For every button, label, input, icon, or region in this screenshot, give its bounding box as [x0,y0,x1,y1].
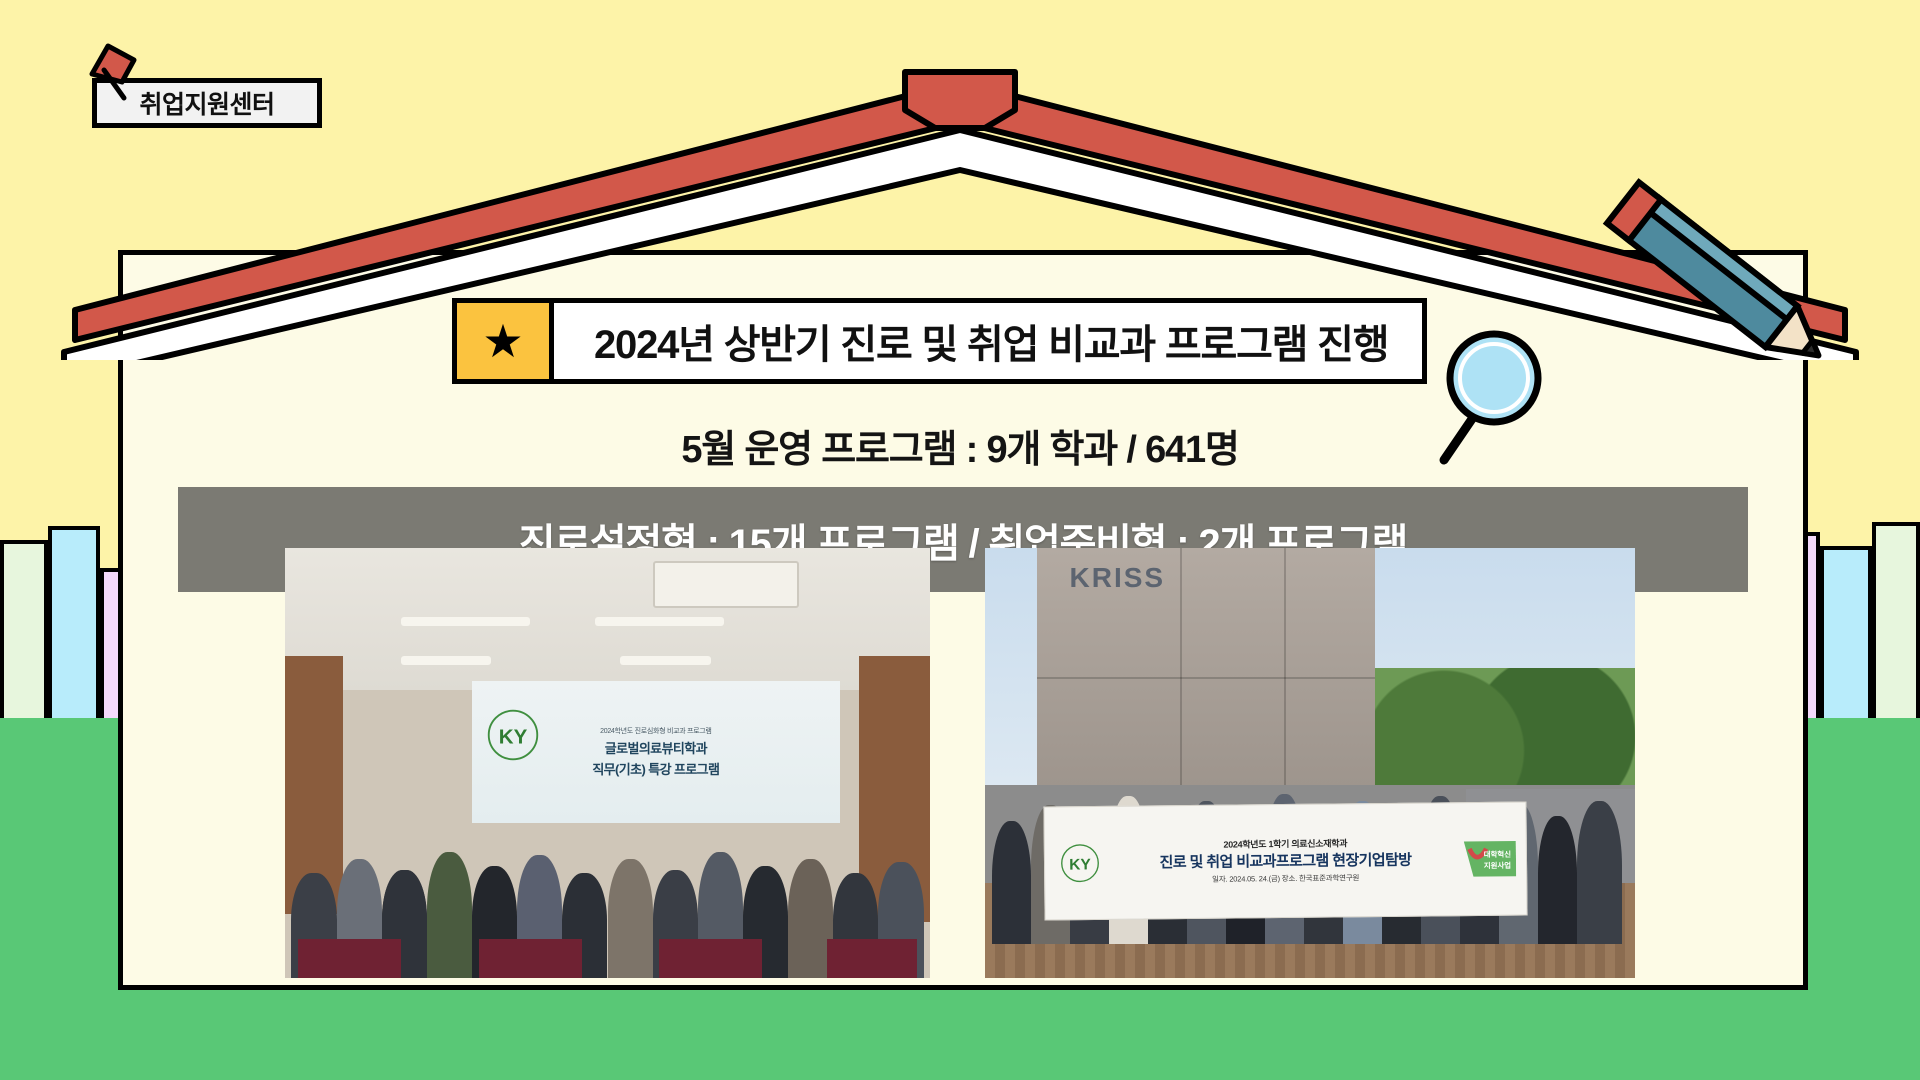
main-title: 2024년 상반기 진로 및 취업 비교과 프로그램 진행 [554,303,1422,379]
screen-line-2: 글로벌의료뷰티학과 [605,738,707,757]
event-banner: KY 2024학년도 1학기 의료신소재학과 진로 및 취업 비교과프로그램 현… [1043,801,1527,920]
field-trip-group-photo: KRISS [985,548,1635,978]
book-spine [1820,546,1872,718]
banner-line-3: 일자. 2024.05. 24.(금) 장소. 한국표준과학연구원 [1212,873,1359,886]
banner-line-1: 2024학년도 1학기 의료신소재학과 [1223,837,1347,851]
main-title-bar: ★ 2024년 상반기 진로 및 취업 비교과 프로그램 진행 [452,298,1427,384]
book-spine [1872,522,1920,718]
screen-line-3: 직무(기초) 특강 프로그램 [592,759,719,778]
star-badge: ★ [457,303,554,379]
svg-text:KY: KY [499,725,528,748]
pencil-icon [1580,175,1870,395]
pushpin-icon [78,40,148,110]
center-name-label: 취업지원센터 [139,85,274,121]
poster-canvas: 취업지원센터 ★ 2024년 상반기 진로 및 취업 비교과 프로그램 진행 5… [0,0,1920,1080]
screen-line-1: 2024학년도 진로심화형 비교과 프로그램 [600,726,711,736]
ky-university-logo: KY [485,707,541,763]
ceiling-ac-unit [653,561,799,608]
lecture-hall-group-photo: 2024학년도 진로심화형 비교과 프로그램 글로벌의료뷰티학과 직무(기초) … [285,548,930,978]
book-spine [48,526,100,718]
kriss-sign: KRISS [1070,557,1363,600]
subtitle-line: 5월 운영 프로그램 : 9개 학과 / 641명 [0,418,1920,473]
star-icon: ★ [482,318,523,364]
svg-text:지원사업: 지원사업 [1484,860,1512,870]
university-innovation-support-project-logo: 대학혁신 지원사업 [1464,840,1516,877]
ky-university-logo: KY [1059,842,1101,884]
svg-text:KY: KY [1069,856,1091,873]
banner-line-2: 진로 및 취업 비교과프로그램 현장기업탐방 [1159,849,1411,873]
book-spine [0,540,48,718]
svg-text:대학혁신: 대학혁신 [1484,849,1512,859]
